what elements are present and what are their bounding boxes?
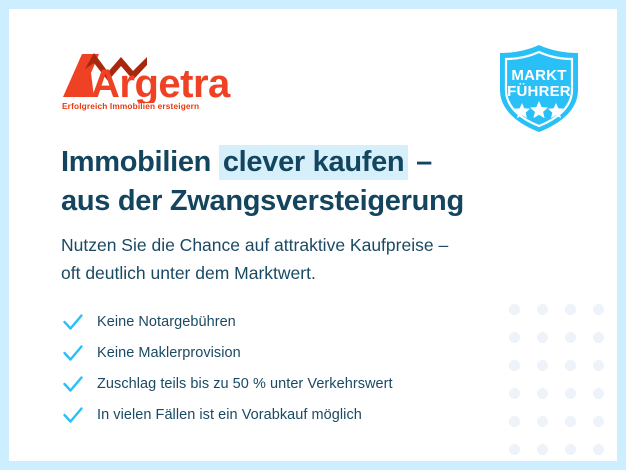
check-icon <box>62 404 84 426</box>
headline-text-after: – <box>408 146 432 178</box>
promo-card-canvas: Argetra Erfolgreich Immobilien ersteiger… <box>9 9 617 461</box>
dot <box>509 304 520 315</box>
dot <box>565 332 576 343</box>
dot <box>537 444 548 455</box>
list-item-label: Keine Maklerprovision <box>97 345 241 361</box>
argetra-logo-mark: Argetra <box>61 51 261 103</box>
subheadline-line-1: Nutzen Sie die Chance auf attraktive Kau… <box>61 231 561 259</box>
dot <box>537 388 548 399</box>
dot <box>593 332 604 343</box>
dot <box>509 332 520 343</box>
dot <box>593 388 604 399</box>
dot <box>565 304 576 315</box>
benefit-list: Keine Notargebühren Keine Maklerprovisio… <box>62 306 393 430</box>
headline-line-2: aus der Zwangsversteigerung <box>61 182 561 221</box>
headline-highlight: clever kaufen <box>219 145 409 180</box>
dot <box>537 360 548 371</box>
dot <box>593 360 604 371</box>
dot <box>593 304 604 315</box>
headline-line-1: Immobilien clever kaufen – <box>61 143 561 182</box>
dot <box>537 304 548 315</box>
markt-fuehrer-badge: MARKT FÜHRER <box>496 44 582 134</box>
list-item: Zuschlag teils bis zu 50 % unter Verkehr… <box>62 368 393 399</box>
shield-icon: MARKT FÜHRER <box>496 44 582 134</box>
headline-text-before: Immobilien <box>61 146 219 178</box>
promo-card-frame: Argetra Erfolgreich Immobilien ersteiger… <box>0 0 626 470</box>
list-item-label: In vielen Fällen ist ein Vorabkauf mögli… <box>97 407 362 423</box>
list-item: Keine Maklerprovision <box>62 337 393 368</box>
check-icon <box>62 342 84 364</box>
check-icon <box>62 373 84 395</box>
headline: Immobilien clever kaufen – aus der Zwang… <box>61 143 561 220</box>
subheadline: Nutzen Sie die Chance auf attraktive Kau… <box>61 231 561 288</box>
list-item-label: Zuschlag teils bis zu 50 % unter Verkehr… <box>97 376 393 392</box>
dot <box>509 360 520 371</box>
dot <box>537 416 548 427</box>
list-item: Keine Notargebühren <box>62 306 393 337</box>
dot <box>509 444 520 455</box>
subheadline-line-2: oft deutlich unter dem Marktwert. <box>61 259 561 287</box>
list-item: In vielen Fällen ist ein Vorabkauf mögli… <box>62 399 393 430</box>
check-icon <box>62 311 84 333</box>
dot <box>565 388 576 399</box>
dot <box>565 416 576 427</box>
svg-text:Argetra: Argetra <box>91 62 231 103</box>
dot <box>509 416 520 427</box>
dot <box>565 360 576 371</box>
dot <box>565 444 576 455</box>
dot <box>593 416 604 427</box>
dot <box>537 332 548 343</box>
logo-tagline: Erfolgreich Immobilien ersteigern <box>62 101 199 111</box>
argetra-logo[interactable]: Argetra Erfolgreich Immobilien ersteiger… <box>61 51 261 117</box>
decorative-dot-grid <box>509 304 617 461</box>
dot <box>593 444 604 455</box>
list-item-label: Keine Notargebühren <box>97 314 236 330</box>
dot <box>509 388 520 399</box>
badge-line1: MARKT <box>511 67 566 84</box>
badge-line2: FÜHRER <box>507 83 571 100</box>
